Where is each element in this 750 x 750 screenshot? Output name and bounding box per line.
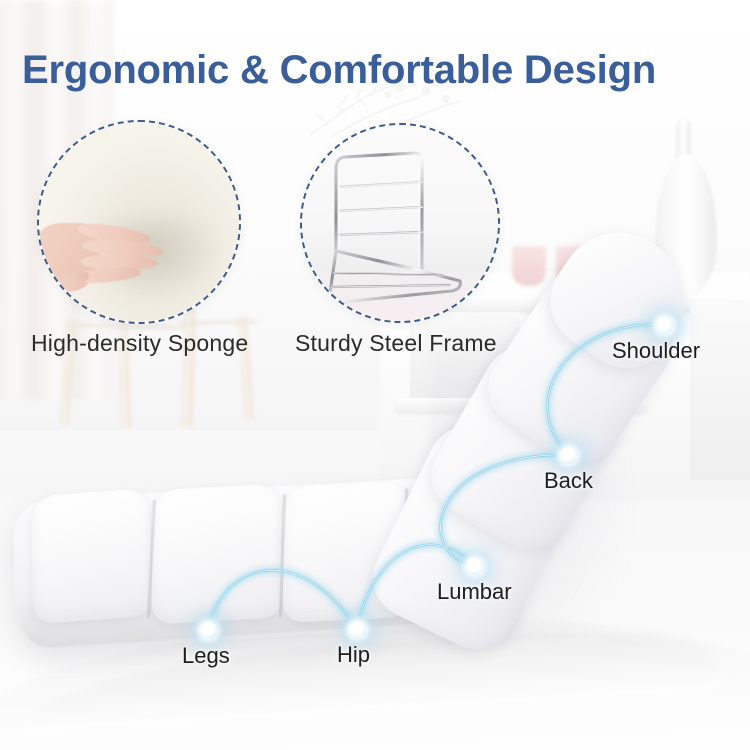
support-curve-lines xyxy=(0,0,750,750)
support-marker-lumbar xyxy=(466,558,483,575)
support-marker-back xyxy=(560,447,577,464)
support-label-legs: Legs xyxy=(182,643,230,669)
support-label-back: Back xyxy=(544,468,593,494)
ergonomic-support-callouts: Legs Hip Lumbar Back Shoulder xyxy=(0,0,750,750)
support-label-hip: Hip xyxy=(337,642,370,668)
support-label-lumbar: Lumbar xyxy=(437,579,512,605)
page-title: Ergonomic & Comfortable Design xyxy=(22,48,656,93)
support-marker-hip xyxy=(349,621,366,638)
support-marker-legs xyxy=(200,622,217,639)
support-label-shoulder: Shoulder xyxy=(612,338,700,364)
product-feature-banner: High-density Sponge xyxy=(0,0,750,750)
support-marker-shoulder xyxy=(656,317,673,334)
